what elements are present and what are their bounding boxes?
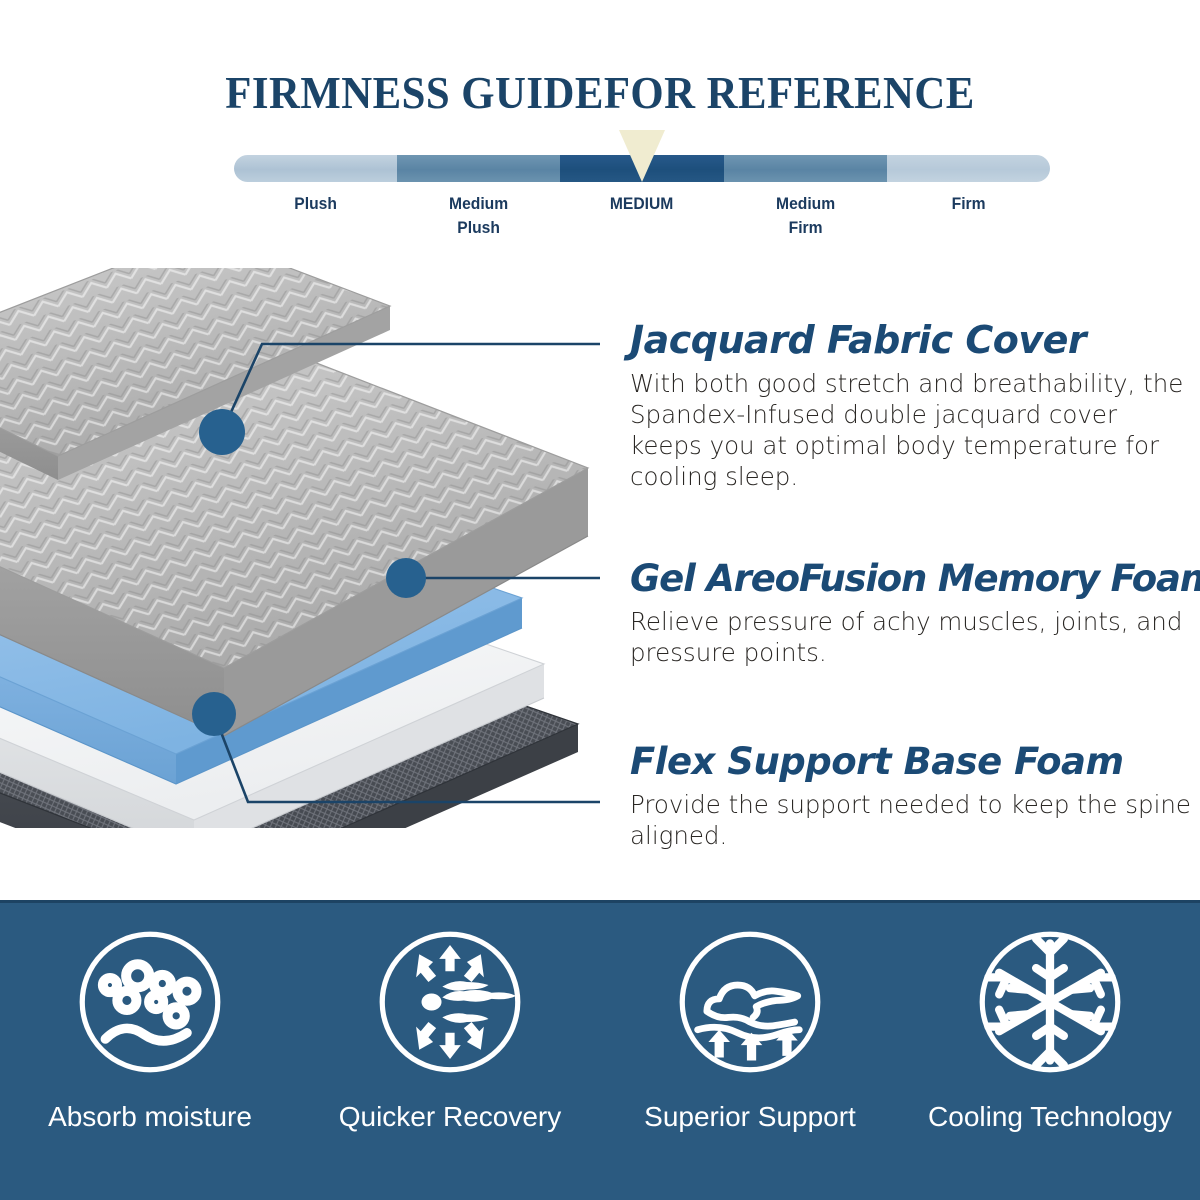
firmness-segment-firm[interactable] <box>887 155 1050 182</box>
snowflake-icon <box>973 925 1127 1079</box>
benefit-cooling-technology: Cooling Technology <box>900 903 1200 1200</box>
firmness-scale <box>234 155 1050 185</box>
feature-flex-support-base-foam: Flex Support Base Foam Provide the suppo… <box>630 740 1195 851</box>
benefit-label: Superior Support <box>644 1101 856 1133</box>
body-expanding-arrows-icon <box>373 925 527 1079</box>
benefits-bar: Absorb moisture <box>0 900 1200 1200</box>
feature-heading: Jacquard Fabric Cover <box>630 318 1195 362</box>
feature-gel-areofusion-memory-foam: Gel AreoFusion Memory Foam Relieve press… <box>630 557 1195 668</box>
benefit-quicker-recovery: Quicker Recovery <box>300 903 600 1200</box>
benefit-label: Quicker Recovery <box>339 1101 562 1133</box>
sleeping-person-support-icon <box>673 925 827 1079</box>
firmness-label-plush: Plush <box>241 192 391 240</box>
exploded-mattress-illustration <box>0 268 648 828</box>
benefit-superior-support: Superior Support <box>600 903 900 1200</box>
feature-body: With both good stretch and breathability… <box>630 368 1195 492</box>
benefit-label: Cooling Technology <box>928 1101 1172 1133</box>
firmness-segment-medium-plush[interactable] <box>397 155 560 182</box>
firmness-label-medium: MEDIUM <box>567 192 717 240</box>
firmness-segment-plush[interactable] <box>234 155 397 182</box>
moisture-droplets-icon <box>73 925 227 1079</box>
firmness-scale-labels: Plush Medium Plush MEDIUM Medium Firm Fi… <box>234 192 1050 240</box>
feature-heading: Gel AreoFusion Memory Foam <box>630 557 1195 600</box>
firmness-label-medium-firm: Medium Firm <box>730 192 880 240</box>
feature-jacquard-fabric-cover: Jacquard Fabric Cover With both good str… <box>630 318 1195 492</box>
benefit-label: Absorb moisture <box>48 1101 252 1133</box>
firmness-segment-medium-firm[interactable] <box>724 155 887 182</box>
feature-body: Provide the support needed to keep the s… <box>630 789 1195 851</box>
feature-body: Relieve pressure of achy muscles, joints… <box>630 606 1195 668</box>
benefit-absorb-moisture: Absorb moisture <box>0 903 300 1200</box>
firmness-label-firm: Firm <box>893 192 1043 240</box>
page-title: FIRMNESS GUIDEFOR REFERENCE <box>42 66 1158 119</box>
infographic-page: FIRMNESS GUIDEFOR REFERENCE Plush Medium… <box>0 0 1200 1200</box>
firmness-label-medium-plush: Medium Plush <box>404 192 554 240</box>
feature-heading: Flex Support Base Foam <box>630 740 1195 783</box>
